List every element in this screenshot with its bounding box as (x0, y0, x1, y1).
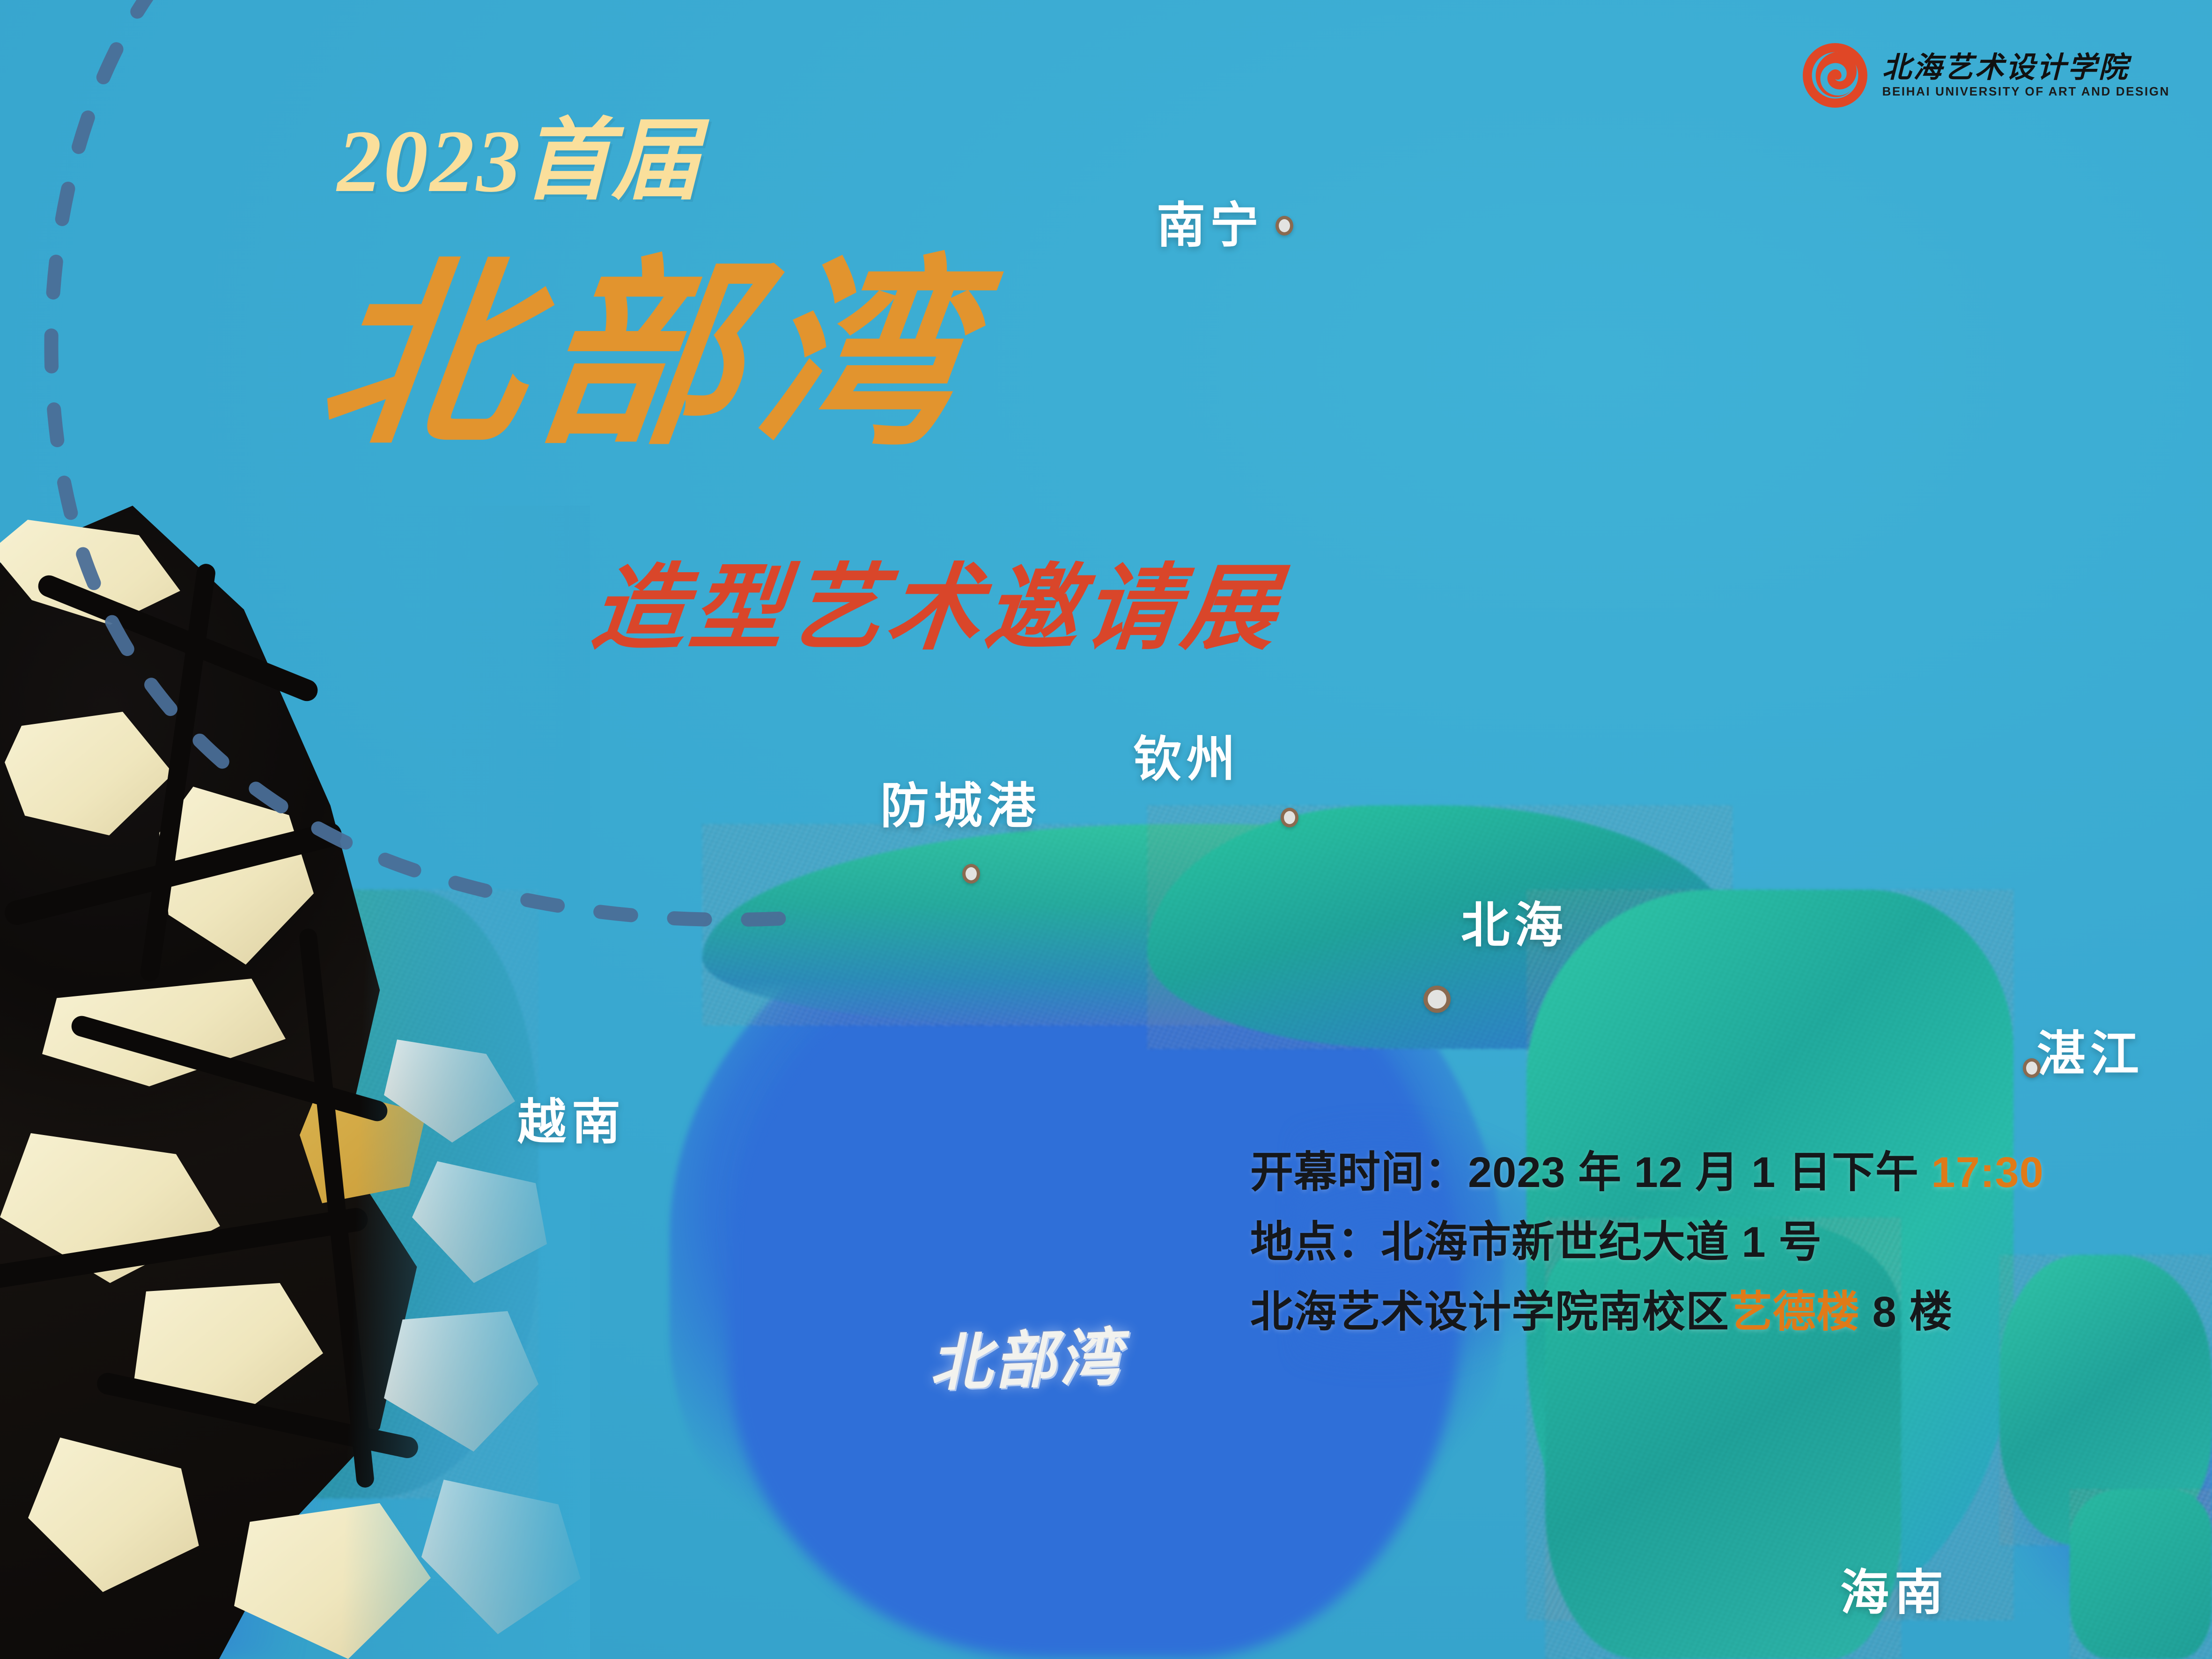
event-date-value: 2023 年 12 月 1 日下午 (1468, 1149, 1932, 1196)
event-time-label: 开幕时间： (1250, 1149, 1468, 1196)
swirl-mark-icon (1800, 40, 1870, 111)
map-dot-icon-zhanjiang (2023, 1058, 2041, 1078)
city-name: 防城港 (880, 782, 1040, 831)
logo-english-name: BEIHAI UNIVERSITY OF ART AND DESIGN (1882, 85, 2170, 97)
map-dot-icon (1276, 216, 1293, 236)
logo-chinese-name: 北海艺术设计学院 (1882, 53, 2170, 82)
event-time-value: 17:30 (1932, 1149, 2044, 1196)
city-name: 湛江 (2037, 1030, 2144, 1079)
headline-year-number: 2023 (337, 112, 523, 211)
logo-text-block: 北海艺术设计学院 BEIHAI UNIVERSITY OF ART AND DE… (1882, 53, 2170, 97)
map-dot-icon-qinzhou (1281, 808, 1298, 827)
city-name: 南宁 (1157, 201, 1263, 250)
city-name: 钦州 (1133, 735, 1240, 784)
headline-main-title: 北部湾 (311, 255, 990, 457)
region-label-vietnam: 越南 (517, 1098, 626, 1147)
venue-building: 艺德楼 (1729, 1288, 1860, 1336)
event-info-block: 开幕时间：2023 年 12 月 1 日下午 17:30 地点：北海市新世纪大道… (1250, 1138, 2044, 1347)
venue-floor: 8 楼 (1860, 1288, 1953, 1336)
headline-year-suffix: 首届 (523, 111, 700, 210)
hainan-island-south (2070, 1489, 2212, 1659)
map-label-beihai[interactable]: 北海 (1461, 901, 1568, 950)
artwork-edge-fade (0, 506, 590, 1659)
map-label-nanning[interactable]: 南宁 (1157, 201, 1293, 250)
event-venue-line: 北海艺术设计学院南校区艺德楼 8 楼 (1250, 1277, 2044, 1347)
event-time-line: 开幕时间：2023 年 12 月 1 日下午 17:30 (1250, 1138, 2044, 1208)
map-label-fangchenggang[interactable]: 防城港 (880, 782, 1040, 831)
venue-campus: 北海艺术设计学院南校区 (1250, 1288, 1729, 1336)
university-logo[interactable]: 北海艺术设计学院 BEIHAI UNIVERSITY OF ART AND DE… (1800, 40, 2170, 111)
city-name: 北海 (1461, 901, 1568, 950)
map-dot-icon-beihai (1423, 986, 1451, 1013)
map-label-zhanjiang[interactable]: 湛江 (2037, 1030, 2144, 1079)
artwork-collage (0, 506, 590, 1659)
event-address-line: 地点：北海市新世纪大道 1 号 (1250, 1208, 2044, 1277)
sea-label-beibu-gulf: 北部湾 (929, 1327, 1124, 1395)
map-label-qinzhou[interactable]: 钦州 (1133, 735, 1240, 784)
poster-canvas: 北海艺术设计学院 BEIHAI UNIVERSITY OF ART AND DE… (0, 0, 2212, 1659)
region-label-hainan: 海南 (1840, 1569, 1949, 1617)
headline-year: 2023首届 (337, 116, 700, 206)
coast-texture (2070, 1489, 2212, 1659)
map-dot-icon-fangchenggang (962, 864, 980, 884)
headline-subtitle: 造型艺术邀请展 (587, 562, 1285, 656)
